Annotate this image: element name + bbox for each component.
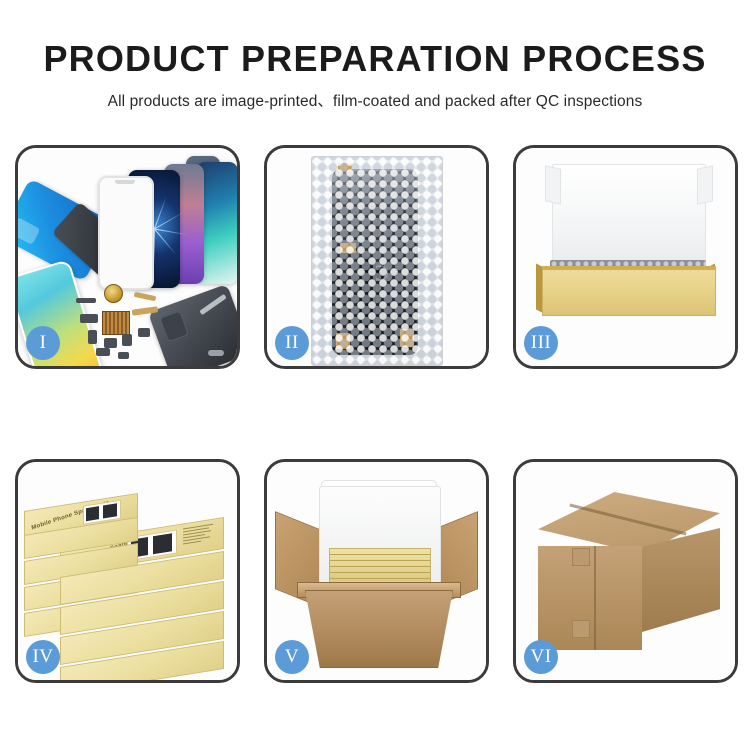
- step-badge-1: I: [26, 326, 60, 360]
- carton-body: [305, 590, 453, 668]
- page-header: PRODUCT PREPARATION PROCESS All products…: [0, 0, 750, 111]
- page-title: PRODUCT PREPARATION PROCESS: [0, 40, 750, 78]
- retail-box-stack: Mobile Phone Spare Parts Mobile Phone Sp…: [22, 478, 234, 670]
- carton-tape-lower: [572, 620, 590, 638]
- step-panel-2[interactable]: II: [264, 145, 489, 369]
- kraft-box-base: [542, 266, 716, 316]
- bubble-texture-shadow: [312, 157, 442, 365]
- small-part-2: [80, 314, 98, 323]
- flex-cable-1: [134, 292, 157, 301]
- step-panel-5[interactable]: V: [264, 459, 489, 683]
- step-panel-3[interactable]: III: [513, 145, 738, 369]
- process-step-grid: I II: [15, 145, 738, 683]
- carton-tape-upper: [572, 548, 590, 566]
- logic-chip-part: [102, 311, 130, 335]
- speaker-coil-part: [104, 284, 123, 303]
- small-part-3: [88, 330, 97, 344]
- small-part-7: [96, 348, 110, 356]
- bubble-wrap-package: [311, 156, 443, 366]
- carton-front-edge: [594, 546, 596, 650]
- step-badge-5: V: [275, 640, 309, 674]
- step-panel-6[interactable]: VI: [513, 459, 738, 683]
- product-preparation-process-page: PRODUCT PREPARATION PROCESS All products…: [0, 0, 750, 750]
- page-subtitle: All products are image-printed、film-coat…: [0, 89, 750, 111]
- small-part-8: [118, 352, 129, 359]
- step-badge-4: IV: [26, 640, 60, 674]
- small-part-5: [122, 334, 132, 346]
- small-part-6: [138, 328, 150, 337]
- tempered-glass-screen: [98, 176, 154, 290]
- step-panel-4[interactable]: Mobile Phone Spare Parts Mobile Phone Sp…: [15, 459, 240, 683]
- step-badge-3: III: [524, 326, 558, 360]
- step-badge-2: II: [275, 326, 309, 360]
- small-part-1: [76, 298, 96, 303]
- screw-set: [208, 350, 224, 356]
- carton-front-face: [538, 546, 642, 650]
- small-part-4: [104, 338, 117, 348]
- step-panel-1[interactable]: I: [15, 145, 240, 369]
- step-badge-6: VI: [524, 640, 558, 674]
